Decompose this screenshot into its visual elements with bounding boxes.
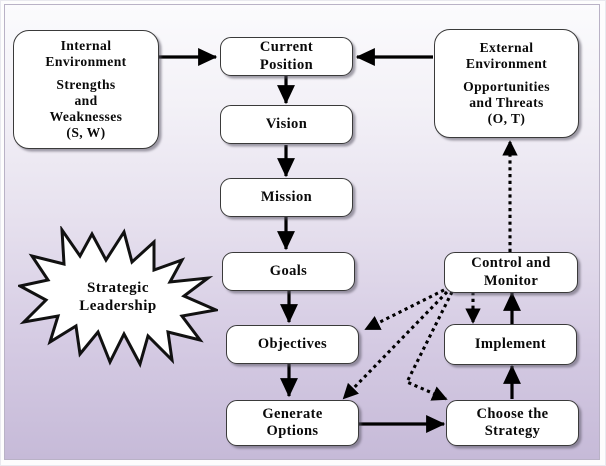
node-goals[interactable]: Goals <box>222 252 355 291</box>
diagram-canvas: Internal Environment Strengths and Weakn… <box>0 0 606 466</box>
internal-environment-line-3: Strengths <box>56 77 115 93</box>
generate-options-line-1: Generate <box>262 406 322 423</box>
internal-environment-line-1: Internal <box>61 38 112 54</box>
starburst-shape[interactable] <box>18 226 218 368</box>
node-objectives[interactable]: Objectives <box>226 325 359 364</box>
node-control-and-monitor[interactable]: Control and Monitor <box>444 252 578 293</box>
node-choose-strategy[interactable]: Choose the Strategy <box>446 400 579 446</box>
external-environment-line-4: and Threats <box>469 95 544 111</box>
vision-label: Vision <box>266 116 307 133</box>
implement-label: Implement <box>475 336 546 353</box>
node-current-position[interactable]: Current Position <box>220 37 353 76</box>
node-implement[interactable]: Implement <box>444 324 577 365</box>
control-monitor-line-2: Monitor <box>484 273 538 290</box>
node-internal-environment[interactable]: Internal Environment Strengths and Weakn… <box>13 30 159 149</box>
current-position-line-1: Current <box>260 39 313 56</box>
node-mission[interactable]: Mission <box>220 178 353 217</box>
control-monitor-line-1: Control and <box>471 255 550 272</box>
choose-strategy-line-1: Choose the <box>476 406 548 423</box>
objectives-label: Objectives <box>258 336 327 353</box>
internal-environment-line-4: and <box>74 93 97 109</box>
external-environment-line-1: External <box>480 40 534 56</box>
mission-label: Mission <box>261 189 312 206</box>
starburst-polygon <box>20 230 216 364</box>
node-vision[interactable]: Vision <box>220 105 353 144</box>
goals-label: Goals <box>270 263 307 280</box>
external-environment-line-3: Opportunities <box>463 79 550 95</box>
node-external-environment[interactable]: External Environment Opportunities and T… <box>434 29 579 138</box>
node-generate-options[interactable]: Generate Options <box>226 400 359 446</box>
internal-environment-line-6: (S, W) <box>66 125 105 141</box>
generate-options-line-2: Options <box>267 423 319 440</box>
external-environment-line-2: Environment <box>466 56 547 72</box>
internal-environment-line-2: Environment <box>45 54 126 70</box>
choose-strategy-line-2: Strategy <box>485 423 541 440</box>
current-position-line-2: Position <box>260 57 313 74</box>
external-environment-line-5: (O, T) <box>488 111 526 127</box>
internal-environment-line-5: Weaknesses <box>50 109 123 125</box>
